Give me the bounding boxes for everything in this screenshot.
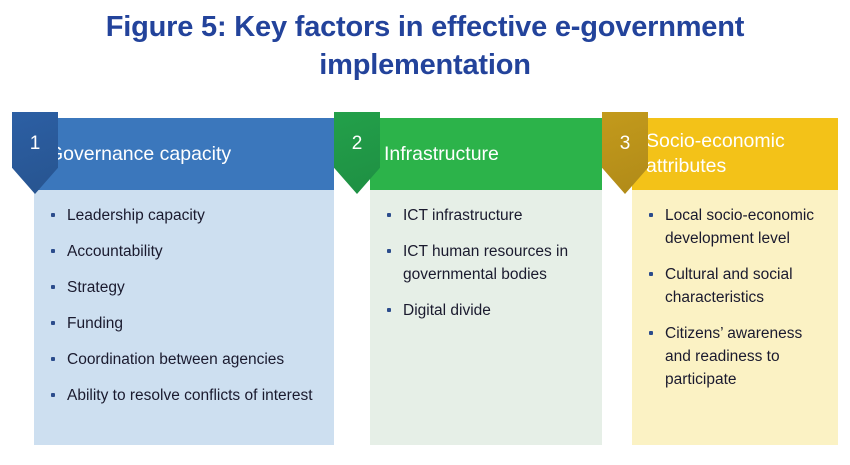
list-item: Funding [50,312,322,335]
column-number-label: 3 [620,134,631,153]
list-item: Leadership capacity [50,204,322,227]
bullet-dot-icon [387,213,391,217]
list-item-label: Ability to resolve conflicts of interest [67,387,313,404]
bullet-list-2: ICT infrastructure ICT human resources i… [386,204,590,322]
list-item-label: Strategy [67,279,125,296]
bullet-dot-icon [387,249,391,253]
column-header-3: Socio-economic attributes [632,118,838,190]
page-title: Figure 5: Key factors in effective e-gov… [0,8,850,84]
column-heading-label: Socio-economic attributes [632,129,838,179]
list-item: ICT human resources in governmental bodi… [386,240,590,286]
bullet-dot-icon [649,213,653,217]
column-body-3: Local socio-economic development level C… [632,190,838,445]
bullet-list-3: Local socio-economic development level C… [648,204,826,391]
list-item-label: Digital divide [403,302,491,319]
list-item-label: Citizens’ awareness and readiness to par… [665,325,802,388]
bullet-dot-icon [649,272,653,276]
bullet-dot-icon [51,393,55,397]
list-item-label: ICT human resources in governmental bodi… [403,243,568,283]
list-item-label: ICT infrastructure [403,207,522,224]
list-item: Ability to resolve conflicts of interest [50,384,322,407]
columns-container: Governance capacity 1 Leadership capacit… [0,110,850,450]
list-item: Local socio-economic development level [648,204,826,250]
bullet-dot-icon [649,331,653,335]
column-heading-label: Governance capacity [34,142,241,167]
list-item: Cultural and social characteristics [648,263,826,309]
list-item-label: Coordination between agencies [67,351,284,368]
column-number-label: 2 [352,134,363,153]
list-item: Digital divide [386,299,590,322]
column-body-1: Leadership capacity Accountability Strat… [34,190,334,445]
column-header-1: Governance capacity [34,118,334,190]
list-item: Accountability [50,240,322,263]
column-heading-label: Infrastructure [370,142,509,167]
list-item-label: Cultural and social characteristics [665,266,793,306]
column-header-2: Infrastructure [370,118,602,190]
bullet-dot-icon [387,308,391,312]
list-item: Strategy [50,276,322,299]
column-number-label: 1 [30,134,41,153]
list-item-label: Local socio-economic development level [665,207,814,247]
bullet-dot-icon [51,213,55,217]
bullet-dot-icon [51,285,55,289]
column-body-2: ICT infrastructure ICT human resources i… [370,190,602,445]
list-item-label: Leadership capacity [67,207,205,224]
bullet-dot-icon [51,321,55,325]
list-item-label: Accountability [67,243,163,260]
list-item: ICT infrastructure [386,204,590,227]
bullet-dot-icon [51,249,55,253]
bullet-dot-icon [51,357,55,361]
list-item: Citizens’ awareness and readiness to par… [648,322,826,391]
list-item-label: Funding [67,315,123,332]
list-item: Coordination between agencies [50,348,322,371]
bullet-list-1: Leadership capacity Accountability Strat… [50,204,322,407]
